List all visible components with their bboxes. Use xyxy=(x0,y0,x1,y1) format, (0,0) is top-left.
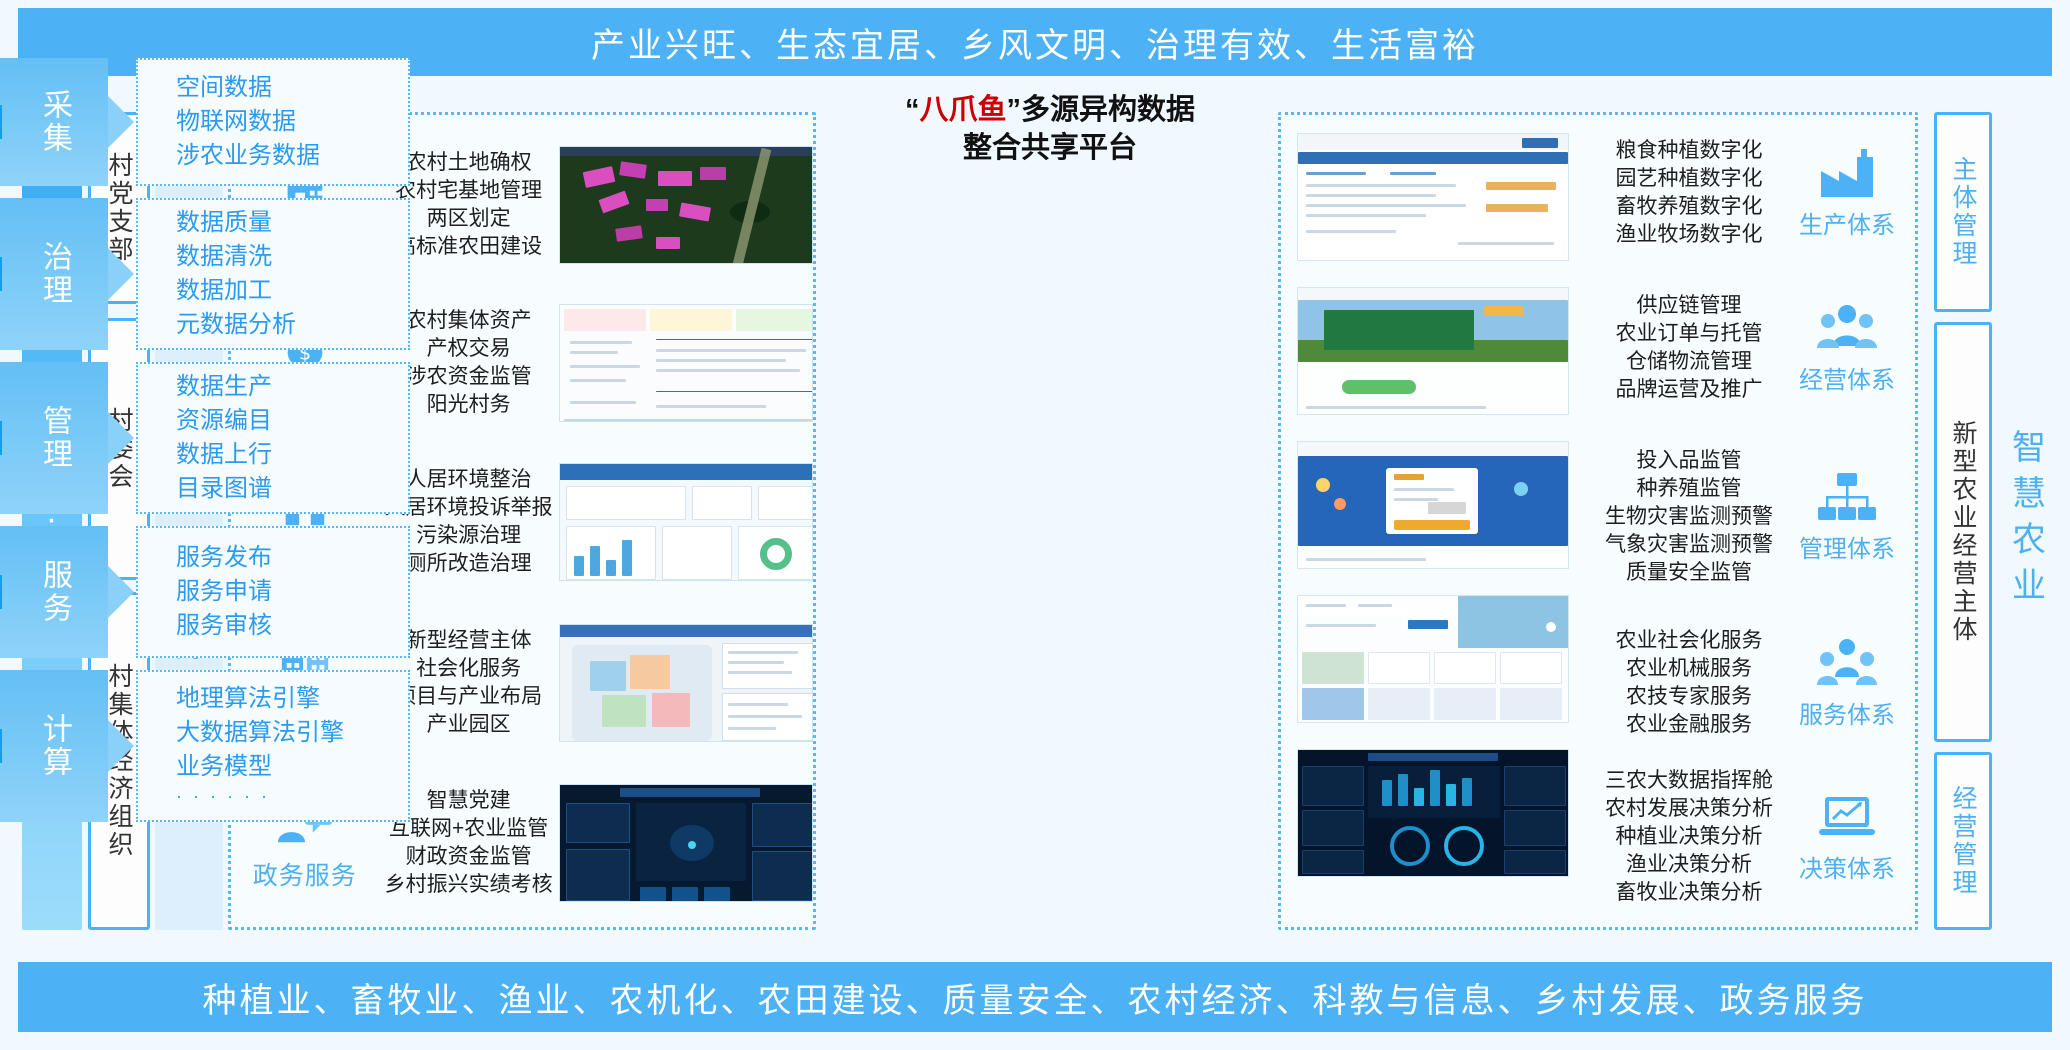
side-box-new-agri-entity[interactable]: 新型农业经营主体 xyxy=(1934,322,1992,742)
module-category-label: 政务服务 xyxy=(253,856,357,892)
stage-item: 目录图谱 xyxy=(176,472,408,506)
org-chart-icon xyxy=(1817,471,1877,525)
system-row-operation[interactable]: 供应链管理 农业订单与托管 仓储物流管理 品牌运营及推广 经营体系 xyxy=(1591,277,1911,419)
bottom-banner: 种植业、畜牧业、渔业、农机化、农田建设、质量安全、农村经济、科教与信息、乡村发展… xyxy=(18,962,2052,1032)
system-icon-block: 决策体系 xyxy=(1787,791,1907,884)
stage-items: 服务发布 服务申请 服务审核 xyxy=(136,526,410,658)
side-box-operation-management[interactable]: 经营管理 xyxy=(1934,752,1992,930)
system-details: 供应链管理 农业订单与托管 仓储物流管理 品牌运营及推广 xyxy=(1591,292,1787,405)
stage-items: 数据质量 数据清洗 数据加工 元数据分析 xyxy=(136,198,410,350)
platform-stages-panel: 采集 空间数据 物联网数据 涉农业务数据 治理 数据质量 数据清洗 数据加工 元… xyxy=(0,0,410,740)
platform-title: “八爪鱼”多源异构数据 整合共享平台 xyxy=(840,92,1260,167)
system-screenshot-bigdata-cockpit xyxy=(1297,749,1569,877)
stage-tag: 计算 xyxy=(0,670,108,822)
stage-item: 资源编目 xyxy=(176,404,408,438)
stage-item: 数据加工 xyxy=(176,274,408,308)
stage-tag: 采集 xyxy=(0,58,108,186)
stage-tag: 治理 xyxy=(0,198,108,350)
system-details: 投入品监管 种养殖监管 生物灾害监测预警 气象灾害监测预警 质量安全监管 xyxy=(1591,447,1787,588)
stage-service[interactable]: 服务 服务发布 服务申请 服务审核 xyxy=(0,526,410,658)
stage-item: 服务审核 xyxy=(176,609,408,643)
module-screenshot-gis-map xyxy=(559,624,813,742)
stage-item: 地理算法引擎 xyxy=(176,682,408,716)
module-screenshot-dark-dashboard xyxy=(559,784,813,902)
system-screenshot-service-portal xyxy=(1297,595,1569,723)
system-category-label: 决策体系 xyxy=(1799,849,1895,884)
service-people-icon xyxy=(1817,637,1877,691)
laptop-chart-icon xyxy=(1817,791,1877,845)
system-row-production[interactable]: 粮食种植数字化 园艺种植数字化 畜牧养殖数字化 渔业牧场数字化 生产体系 xyxy=(1591,125,1911,261)
system-screenshot-portal xyxy=(1297,133,1569,261)
title-line-2: 整合共享平台 xyxy=(840,130,1260,168)
stage-computation[interactable]: 计算 地理算法引擎 大数据算法引擎 业务模型 · · · · · · xyxy=(0,670,410,822)
people-group-icon xyxy=(1817,302,1877,356)
stage-item: 数据清洗 xyxy=(176,240,408,274)
system-screenshot-safety xyxy=(1297,441,1569,569)
system-row-decision[interactable]: 三农大数据指挥舱 农村发展决策分析 种植业决策分析 渔业决策分析 畜牧业决策分析… xyxy=(1591,763,1911,911)
system-category-label: 经营体系 xyxy=(1799,360,1895,395)
stage-item-ellipsis: · · · · · · xyxy=(176,784,408,810)
stage-tag: 管理 xyxy=(0,362,108,514)
stage-items: 地理算法引擎 大数据算法引擎 业务模型 · · · · · · xyxy=(136,670,410,822)
stage-tag: 服务 xyxy=(0,526,108,658)
system-icon-block: 管理体系 xyxy=(1787,471,1907,564)
system-icon-block: 生产体系 xyxy=(1787,147,1907,240)
stage-item: 业务模型 xyxy=(176,750,408,784)
stage-item: 数据上行 xyxy=(176,438,408,472)
system-category-label: 管理体系 xyxy=(1799,529,1895,564)
stage-collection[interactable]: 采集 空间数据 物联网数据 涉农业务数据 xyxy=(0,58,410,186)
system-screenshot-greenhouse xyxy=(1297,287,1569,415)
system-category-label: 服务体系 xyxy=(1799,695,1895,730)
module-screenshot-dashboard xyxy=(559,304,813,422)
system-icon-block: 服务体系 xyxy=(1787,637,1907,730)
stage-item: 数据生产 xyxy=(176,370,408,404)
diagram-root: 产业兴旺、生态宜居、乡风文明、治理有效、生活富裕 数字·乡村 村党支部 村委会 … xyxy=(0,0,2070,1050)
system-icon-block: 经营体系 xyxy=(1787,302,1907,395)
stage-item: 空间数据 xyxy=(176,71,408,105)
side-box-entity-management[interactable]: 主体管理 xyxy=(1934,112,1992,312)
stage-item: 物联网数据 xyxy=(176,105,408,139)
module-screenshot-analytics xyxy=(559,463,813,581)
system-details: 粮食种植数字化 园艺种植数字化 畜牧养殖数字化 渔业牧场数字化 xyxy=(1591,137,1787,250)
stage-item: 服务申请 xyxy=(176,575,408,609)
system-row-management[interactable]: 投入品监管 种养殖监管 生物灾害监测预警 气象灾害监测预警 质量安全监管 管理体… xyxy=(1591,433,1911,601)
module-screenshot-satellite-map xyxy=(559,146,813,264)
stage-items: 空间数据 物联网数据 涉农业务数据 xyxy=(136,58,410,186)
stage-items: 数据生产 资源编目 数据上行 目录图谱 xyxy=(136,362,410,514)
stage-management[interactable]: 管理 数据生产 资源编目 数据上行 目录图谱 xyxy=(0,362,410,514)
title-quote-right: ” xyxy=(1007,94,1022,126)
title-rest: 多源异构数据 xyxy=(1021,94,1195,126)
stage-item: 服务发布 xyxy=(176,541,408,575)
stage-item: 数据质量 xyxy=(176,206,408,240)
system-details: 三农大数据指挥舱 农村发展决策分析 种植业决策分析 渔业决策分析 畜牧业决策分析 xyxy=(1591,767,1787,908)
right-systems-panel: 粮食种植数字化 园艺种植数字化 畜牧养殖数字化 渔业牧场数字化 生产体系 供应链… xyxy=(1278,112,1918,930)
title-quote-left: “ xyxy=(905,94,920,126)
stage-governance[interactable]: 治理 数据质量 数据清洗 数据加工 元数据分析 xyxy=(0,198,410,350)
system-category-label: 生产体系 xyxy=(1799,205,1895,240)
system-row-service[interactable]: 农业社会化服务 农业机械服务 农技专家服务 农业金融服务 服务体系 xyxy=(1591,615,1911,751)
factory-icon xyxy=(1817,147,1877,201)
stage-item: 大数据算法引擎 xyxy=(176,716,408,750)
title-highlight: 八爪鱼 xyxy=(919,94,1006,126)
stage-item: 涉农业务数据 xyxy=(176,139,408,173)
smart-agriculture-spine: 智慧农业 xyxy=(2000,112,2052,930)
system-details: 农业社会化服务 农业机械服务 农技专家服务 农业金融服务 xyxy=(1591,627,1787,740)
stage-item: 元数据分析 xyxy=(176,308,408,342)
